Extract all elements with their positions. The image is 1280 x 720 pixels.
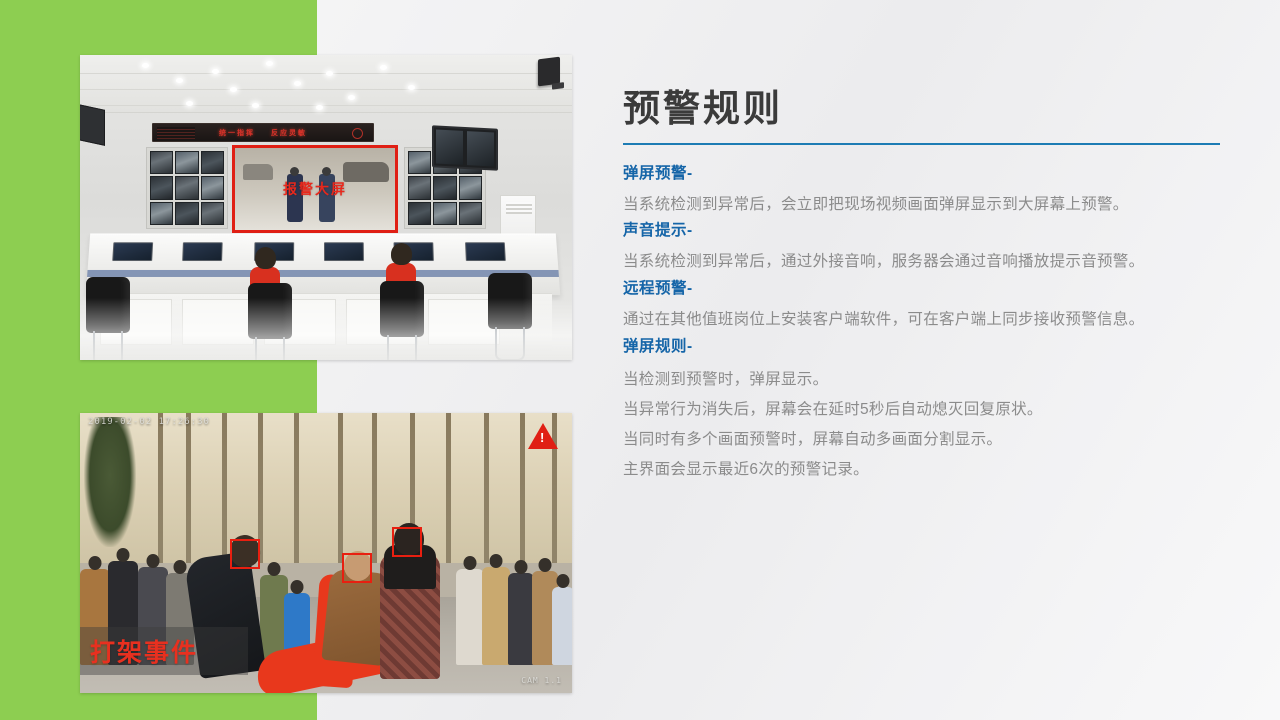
rule-item: 当同时有多个画面预警时，屏幕自动多画面分割显示。 <box>623 425 1223 455</box>
event-label-text: 打架事件 <box>90 633 198 669</box>
camera-id-label: CAM 1.1 <box>521 676 562 685</box>
section-body: 通过在其他值班岗位上安装客户端软件，可在客户端上同步接收预警信息。 <box>623 307 1220 334</box>
section-danping-yujing: 弹屏预警- 当系统检测到异常后，会立即把现场视频画面弹屏显示到大屏幕上预警。 <box>623 161 1223 219</box>
led-banner-text-left: 统一指挥 <box>219 128 255 138</box>
section-body: 当系统检测到异常后，通过外接音响，服务器会通过音响播放提示音预警。 <box>623 249 1220 276</box>
face-detection-box-2 <box>342 553 372 583</box>
rule-item: 主界面会显示最近6次的预警记录。 <box>623 455 1223 485</box>
face-detection-box-3 <box>392 527 422 557</box>
rule-item: 当检测到预警时，弹屏显示。 <box>623 365 1223 395</box>
event-label-bar: 打架事件 <box>80 627 248 675</box>
video-timestamp: 2019-02-02 17:26:30 <box>88 417 210 427</box>
monitor-wall-left <box>146 147 228 229</box>
fight-detection-image: 2019-02-02 17:26:30 CAM 1.1 打架事件 <box>80 413 572 693</box>
led-banner-text-right: 反应灵敏 <box>271 128 307 138</box>
wall-tv-pair <box>432 125 498 170</box>
section-danping-guize: 弹屏规则- 当检测到预警时，弹屏显示。 当异常行为消失后，屏幕会在延时5秒后自动… <box>623 334 1223 486</box>
ceiling-speaker-icon <box>538 57 560 87</box>
led-scrolling-banner: 统一指挥 反应灵敏 <box>152 123 374 142</box>
alarm-big-screen: 报警大屏 <box>232 145 398 233</box>
section-yuancheng-yujing: 远程预警- 通过在其他值班岗位上安装客户端软件，可在客户端上同步接收预警信息。 <box>623 276 1223 334</box>
page-title: 预警规则 <box>623 88 1223 131</box>
section-heading: 弹屏预警- <box>623 161 1223 183</box>
fight-scene: 2019-02-02 17:26:30 CAM 1.1 打架事件 <box>80 413 572 693</box>
warning-triangle-icon <box>528 423 558 449</box>
section-shengyin-tishi: 声音提示- 当系统检测到异常后，通过外接音响，服务器会通过音响播放提示音预警。 <box>623 218 1223 276</box>
title-divider <box>623 143 1220 145</box>
content-column: 预警规则 弹屏预警- 当系统检测到异常后，会立即把现场视频画面弹屏显示到大屏幕上… <box>623 88 1223 485</box>
section-heading: 声音提示- <box>623 218 1223 240</box>
face-detection-box-1 <box>230 539 260 569</box>
floor-reflection <box>80 298 572 360</box>
control-room-scene: 统一指挥 反应灵敏 报警大屏 <box>80 55 572 360</box>
alarm-screen-label: 报警大屏 <box>235 179 395 199</box>
section-heading: 弹屏规则- <box>623 334 1223 356</box>
side-wall-monitor <box>80 104 105 146</box>
section-body: 当系统检测到异常后，会立即把现场视频画面弹屏显示到大屏幕上预警。 <box>623 192 1220 219</box>
control-room-image: 统一指挥 反应灵敏 报警大屏 <box>80 55 572 360</box>
media-column: 统一指挥 反应灵敏 报警大屏 <box>80 0 572 720</box>
ceiling <box>80 55 572 113</box>
section-heading: 远程预警- <box>623 276 1223 298</box>
rule-item: 当异常行为消失后，屏幕会在延时5秒后自动熄灭回复原状。 <box>623 395 1223 425</box>
